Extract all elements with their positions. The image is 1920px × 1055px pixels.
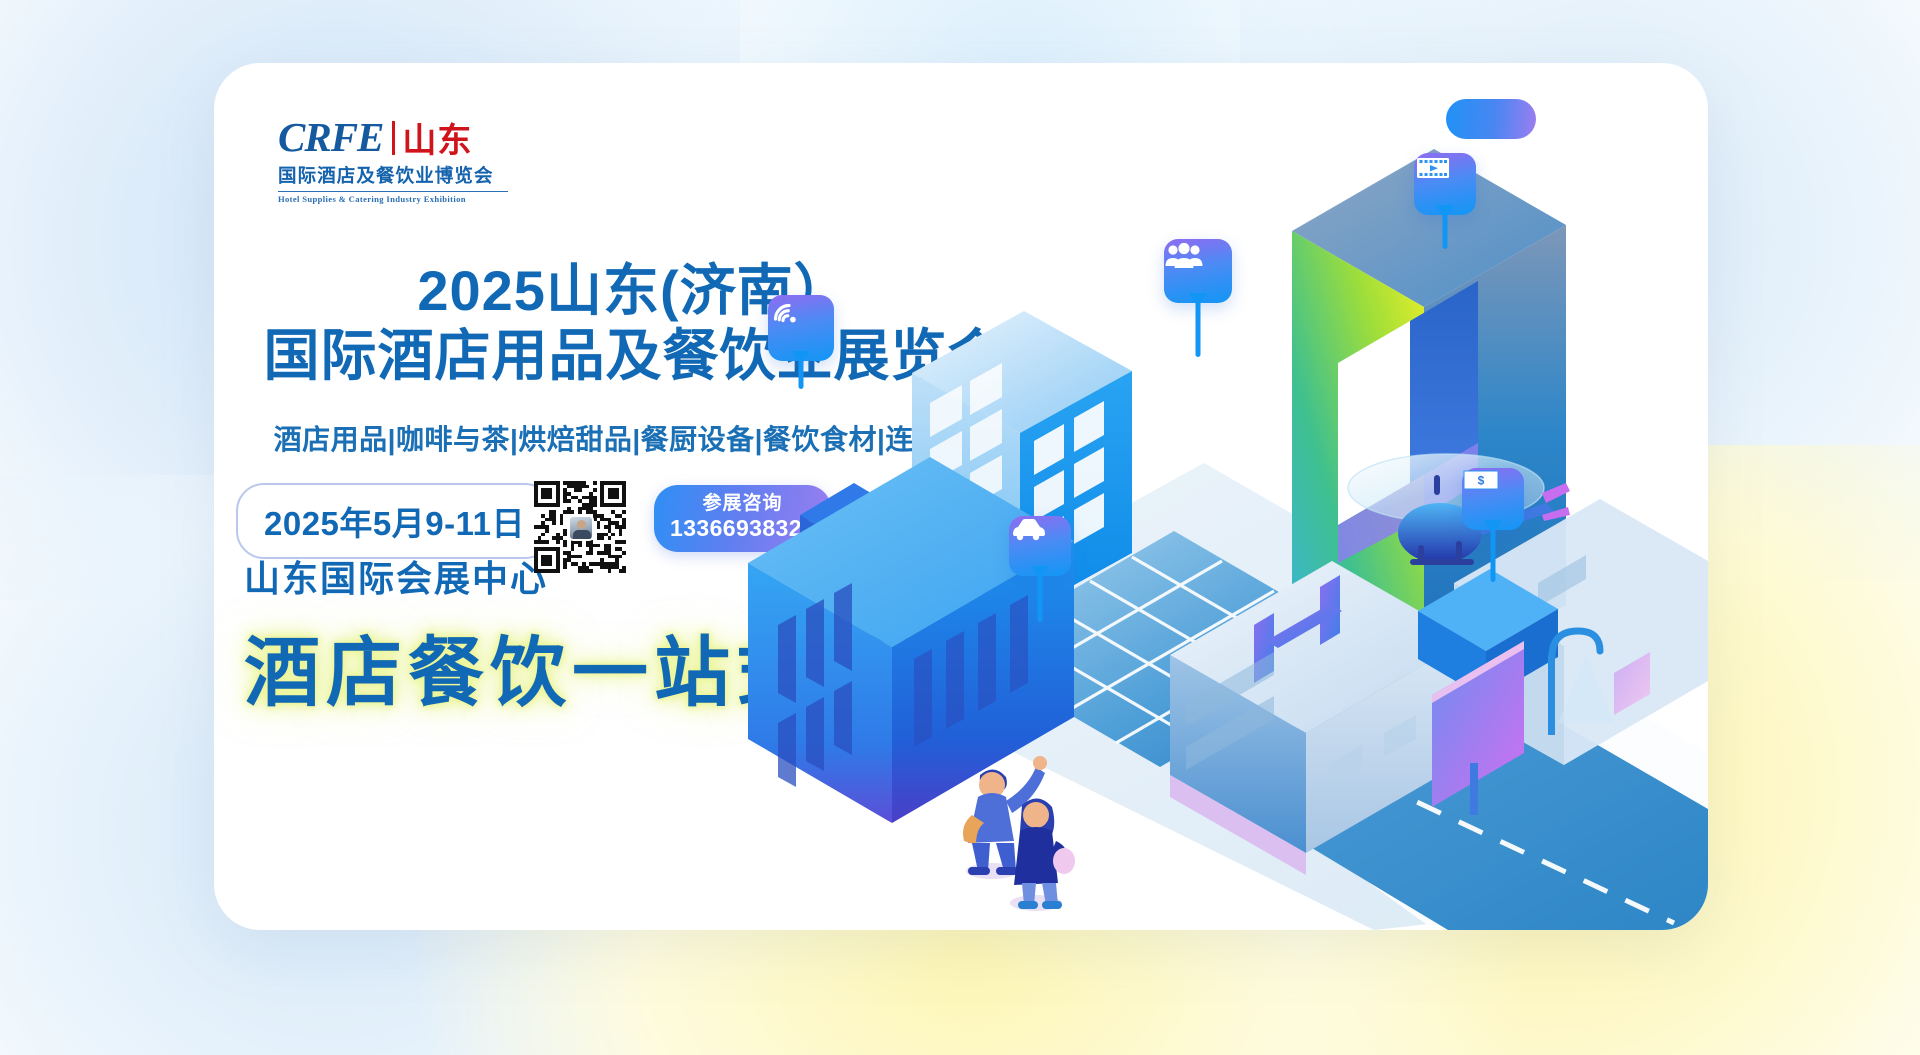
crfe-logo[interactable]: CRFE 山东 国际酒店及餐饮业博览会 Hotel Supplies & Cat… — [278, 114, 508, 204]
banknote-dollar-icon: $ — [1462, 468, 1500, 492]
film-play-icon — [1414, 153, 1452, 183]
logo-crfe-text: CRFE — [278, 117, 383, 158]
wifi-pin[interactable] — [768, 295, 834, 361]
people-pin-stem — [1196, 303, 1201, 357]
event-date-badge: 2025年5月9-11日 — [236, 483, 553, 559]
banner-stage: CRFE 山东 国际酒店及餐饮业博览会 Hotel Supplies & Cat… — [0, 0, 1920, 1055]
rounded-pill-badge — [1446, 99, 1536, 139]
money-pin[interactable]: $ — [1462, 468, 1524, 530]
wifi-icon — [768, 295, 804, 331]
video-pin-stem — [1443, 215, 1448, 249]
wifi-pin-stem — [799, 361, 804, 389]
person-woman — [1010, 798, 1075, 911]
poster-card: CRFE 山东 国际酒店及餐饮业博览会 Hotel Supplies & Cat… — [214, 63, 1708, 930]
logo-top-row: CRFE 山东 — [278, 114, 508, 158]
logo-chinese-name: 国际酒店及餐饮业博览会 — [278, 162, 508, 188]
car-pin-stem — [1038, 576, 1043, 622]
isometric-city-illustration: $ — [734, 63, 1708, 930]
logo-english-name: Hotel Supplies & Catering Industry Exhib… — [278, 191, 508, 204]
car-pin[interactable] — [1009, 516, 1071, 576]
svg-text:$: $ — [1478, 474, 1485, 488]
video-pin[interactable] — [1414, 153, 1476, 215]
logo-divider — [392, 121, 395, 155]
people-group-icon — [1164, 239, 1204, 273]
money-pin-stem — [1491, 530, 1496, 582]
people-pin[interactable] — [1164, 239, 1232, 303]
city-scene-svg — [734, 63, 1708, 930]
car-icon — [1009, 516, 1047, 542]
logo-region-text: 山东 — [402, 124, 472, 158]
qr-avatar — [568, 515, 594, 541]
event-venue: 山东国际会展中心 — [244, 550, 548, 602]
